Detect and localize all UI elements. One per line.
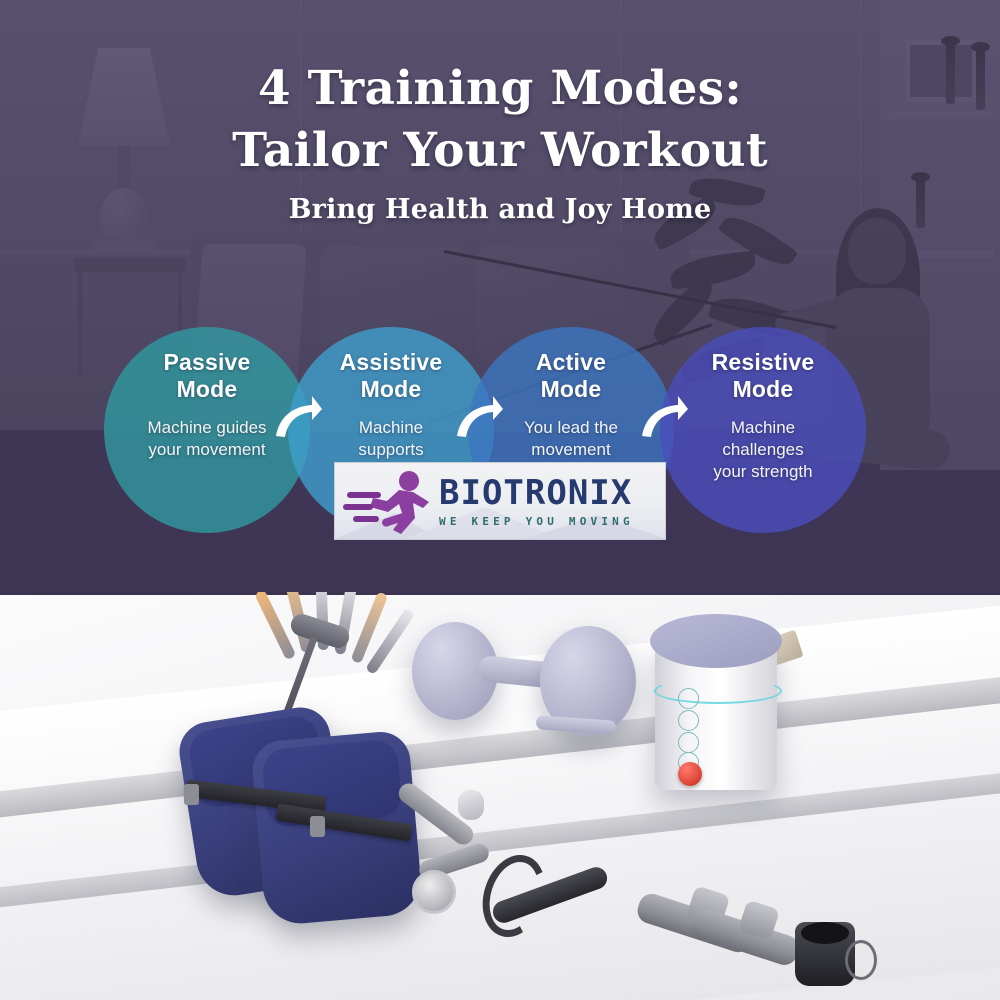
curved-arrow-up-right-icon [638,392,690,442]
mode-title: Active [536,349,606,375]
mode-desc-line: your movement [148,440,265,459]
control-button[interactable] [678,710,699,731]
cuff-opening [801,922,849,944]
mode-desc-line: Machine [359,418,423,437]
promo-banner: 4 Training Modes: Tailor Your Workout Br… [0,0,1000,1000]
crank-knob [458,790,484,820]
crank-hub [412,870,456,914]
mode-desc-line: challenges [722,440,803,459]
section-divider [0,592,1000,595]
hero-section: 4 Training Modes: Tailor Your Workout Br… [0,0,1000,592]
led-ring [654,678,782,704]
brand-name: BIOTRONIX [439,474,634,512]
control-button[interactable] [678,688,699,709]
cuff-d-ring [845,940,877,980]
strap-buckle [310,816,325,837]
mode-desc-line: your strength [713,462,812,481]
mode-title: Resistive [712,349,815,375]
curved-arrow-up-right-icon [453,392,505,442]
mode-title-2: Mode [177,376,238,402]
mode-title-2: Mode [541,376,602,402]
power-button[interactable] [678,762,702,786]
mode-title: Assistive [340,349,443,375]
watermark-text: BIOTRONIX WE KEEP YOU MOVING [439,474,634,528]
product-photo-section [0,592,1000,1000]
mode-desc-line: Machine guides [147,418,266,437]
headline-line-2: Tailor Your Workout [0,120,1000,182]
mode-desc-line: supports [358,440,423,459]
mode-label-resistive: Resistive Mode Machine challenges your s… [660,327,866,533]
strap-buckle [184,784,199,805]
headline-line-1: 4 Training Modes: [0,58,1000,120]
mode-title-2: Mode [361,376,422,402]
mode-title: Passive [163,349,250,375]
biotronix-watermark: BIOTRONIX WE KEEP YOU MOVING [334,462,666,540]
mode-desc-line: movement [531,440,610,459]
mode-desc-line: Machine [731,418,795,437]
curved-arrow-up-right-icon [272,392,324,442]
cylinder-top [650,614,782,668]
control-button[interactable] [678,732,699,753]
running-man-icon [343,468,439,534]
brand-tagline: WE KEEP YOU MOVING [439,515,634,528]
hero-titles: 4 Training Modes: Tailor Your Workout Br… [0,58,1000,225]
hero-subtitle: Bring Health and Joy Home [0,194,1000,225]
mode-title-2: Mode [733,376,794,402]
mode-desc-line: You lead the [524,418,618,437]
